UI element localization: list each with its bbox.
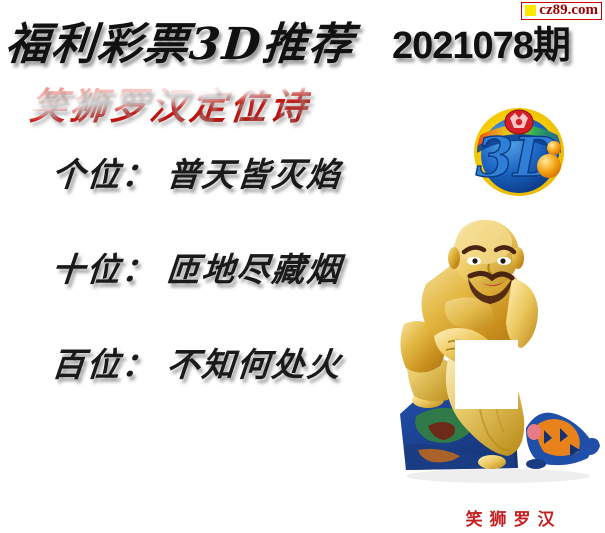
poem-text-hundreds: 不知何处火 <box>165 345 343 384</box>
china-welfare-lottery-emblem <box>505 110 533 134</box>
statue-shoulder <box>506 278 538 348</box>
lion-companion <box>526 413 600 469</box>
logo-orb-small <box>547 141 561 155</box>
poem-line-ones: 个位：普天皆灭焰 <box>50 148 344 196</box>
yellow-square-icon <box>525 5 536 16</box>
page-subtitle: 笑狮罗汉定位诗 <box>27 76 313 130</box>
lottery-recommendation-poster: cz89.com 福利彩票3D推荐 2021078期 笑狮罗汉定位诗 个位：普天… <box>0 0 605 533</box>
logo-orb-large <box>537 154 561 178</box>
poem-line-tens: 十位：匝地尽藏烟 <box>50 243 344 291</box>
poem-position-label-tens: 十位： <box>50 250 158 289</box>
page-title: 福利彩票3D推荐 <box>3 8 357 72</box>
poem-line-hundreds: 百位：不知何处火 <box>50 338 344 386</box>
statue-foot-front <box>478 455 506 469</box>
poem-text-ones: 普天皆灭焰 <box>165 155 343 194</box>
poem-position-label-ones: 个位： <box>50 155 158 194</box>
site-watermark: cz89.com <box>521 2 602 20</box>
poem-text-tens: 匝地尽藏烟 <box>165 250 343 289</box>
white-occlusion-patch <box>455 340 518 409</box>
issue-number: 2021078期 <box>392 14 570 69</box>
watermark-text: cz89.com <box>539 3 598 18</box>
statue-caption: 笑狮罗汉 <box>440 505 580 530</box>
3d-lottery-logo: 3D <box>466 100 572 200</box>
poem-position-label-hundreds: 百位： <box>50 345 158 384</box>
